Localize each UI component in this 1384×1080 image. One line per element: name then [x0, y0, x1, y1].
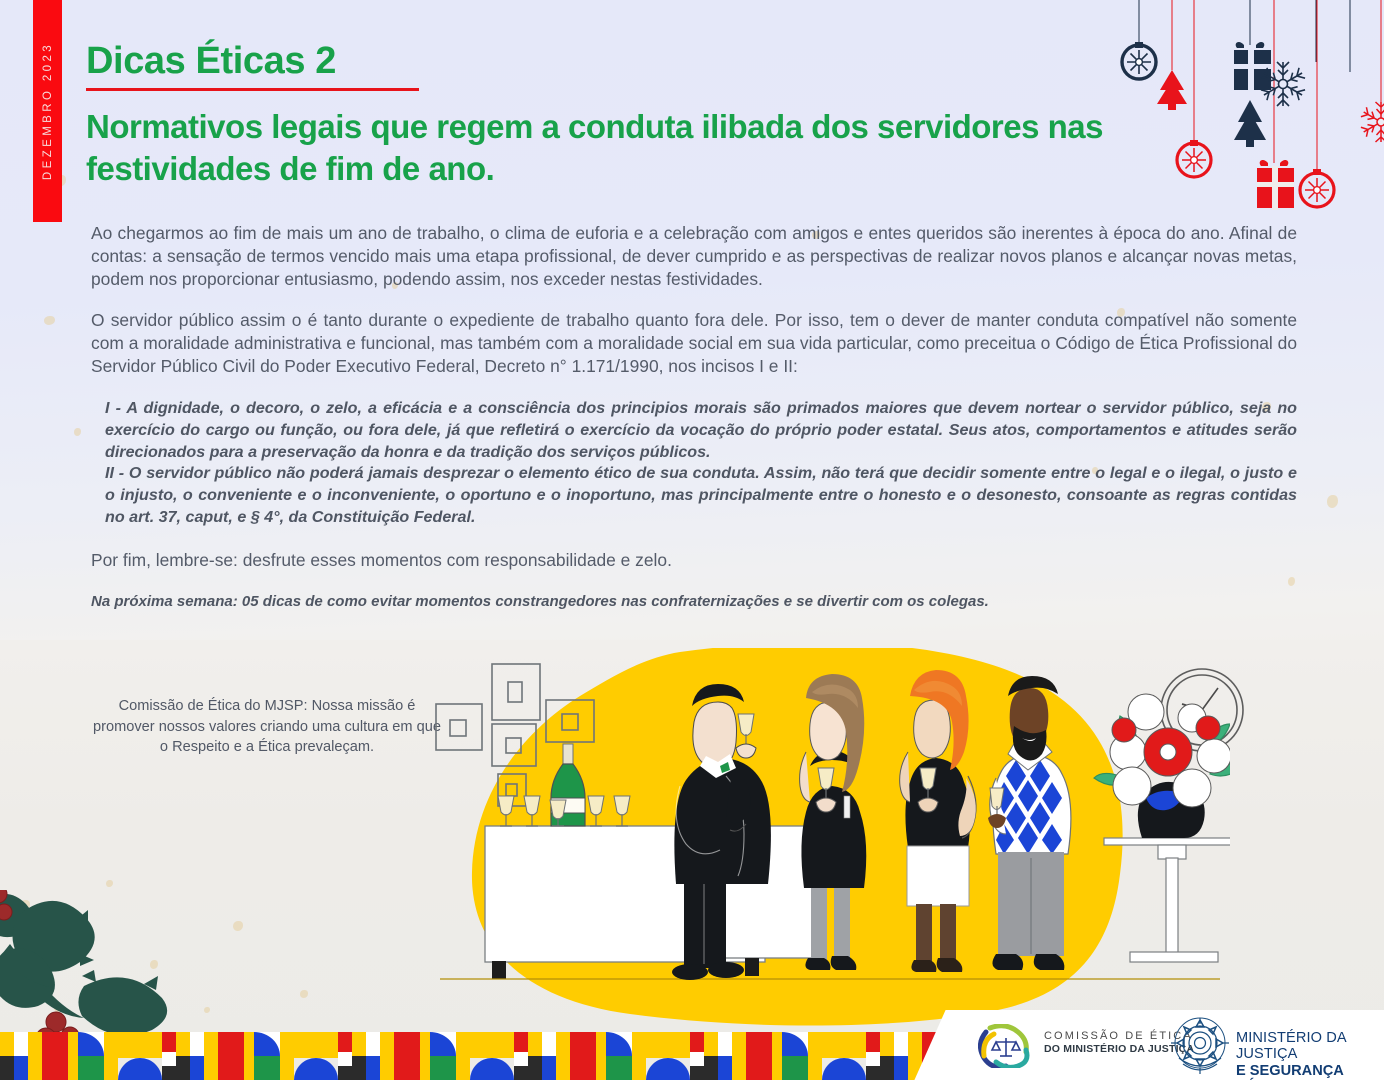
gift-red-icon: [1257, 160, 1294, 210]
ministry-line2: E SEGURANÇA PÚBLICA: [1236, 1063, 1384, 1080]
gift-navy-icon: [1234, 42, 1271, 92]
ethics-commission-logo-icon: [978, 1024, 1038, 1068]
ministry-logo-text: MINISTÉRIO DA JUSTIÇA E SEGURANÇA PÚBLIC…: [1236, 1030, 1384, 1080]
tree-navy-icon: [1234, 100, 1266, 147]
bauble-red-icon: [1177, 140, 1211, 177]
tree-red-icon: [1157, 70, 1187, 110]
closing-line: Por fim, lembre-se: desfrute esses momen…: [91, 550, 1297, 571]
body-copy: Ao chegarmos ao fim de mais um ano de tr…: [91, 222, 1297, 610]
date-tab-label: DEZEMBRO 2023: [42, 42, 54, 180]
quote-inciso-2: II - O servidor público não poderá jamai…: [105, 463, 1297, 528]
quote-inciso-1: I - A dignidade, o decoro, o zelo, a efi…: [105, 398, 1297, 463]
title-underline: [86, 88, 419, 91]
page-subtitle: Normativos legais que regem a conduta il…: [86, 106, 1146, 190]
paragraph-1: Ao chegarmos ao fim de mais um ano de tr…: [91, 222, 1297, 292]
ministry-line1: MINISTÉRIO DA JUSTIÇA: [1236, 1030, 1384, 1063]
mission-statement: Comissão de Ética do MJSP: Nossa missão …: [88, 696, 446, 758]
holly-decoration-icon: [0, 890, 222, 1050]
party-illustration: [430, 648, 1230, 1048]
paragraph-2: O servidor público assim o é tanto duran…: [91, 309, 1297, 379]
bauble-navy-icon: [1122, 42, 1156, 79]
poster: DEZEMBRO 2023 Dicas Éticas 2 Normativos …: [0, 0, 1384, 1080]
next-week-line: Na próxima semana: 05 dicas de como evit…: [91, 593, 1297, 610]
snowflake-red-icon: [1361, 102, 1384, 142]
brasao-republica-icon: [1169, 1016, 1231, 1076]
page-title: Dicas Éticas 2: [86, 40, 336, 83]
quote-block: I - A dignidade, o decoro, o zelo, a efi…: [105, 398, 1297, 528]
christmas-ornaments-group: [1084, 0, 1384, 220]
date-tab: DEZEMBRO 2023: [33, 0, 62, 222]
bauble-red-2-icon: [1300, 169, 1334, 207]
footer-logos: COMISSÃO DE ÉTICA DO MINISTÉRIO DA JUSTI…: [964, 1010, 1384, 1080]
